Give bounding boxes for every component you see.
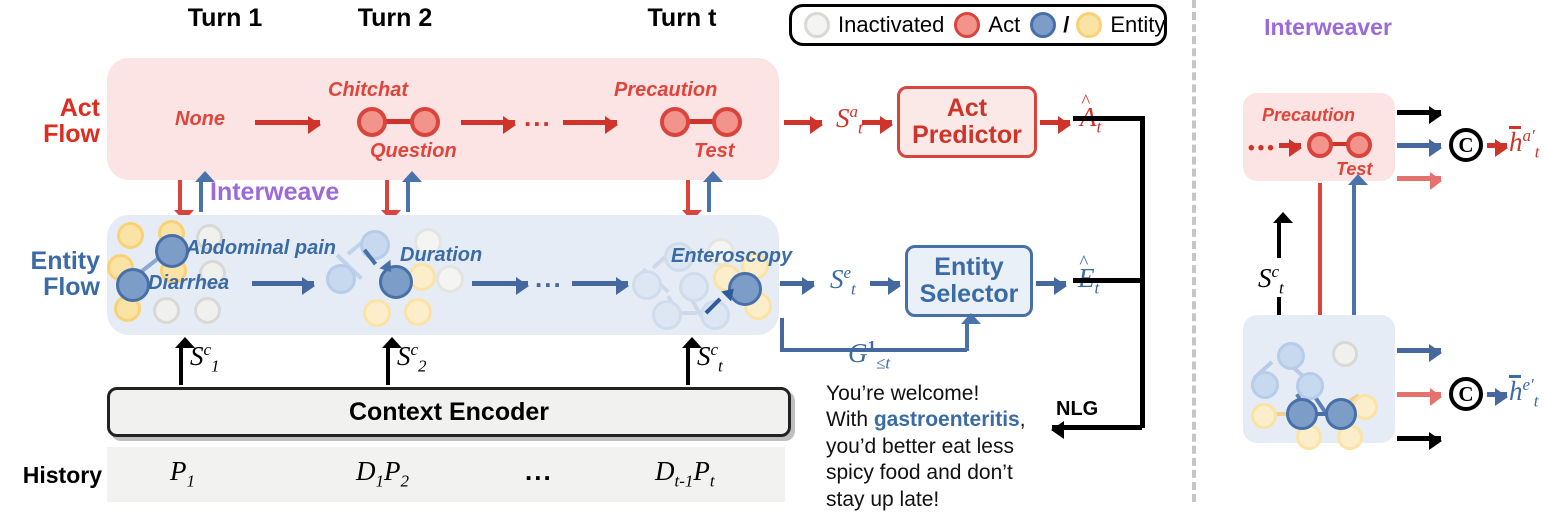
act-turn2-top-label: Chitchat <box>328 79 408 102</box>
interweaver-title: Interweaver <box>1228 14 1428 41</box>
iw-ent-node-gray <box>1332 341 1358 367</box>
interweaver-ent-out-black <box>1397 436 1441 441</box>
legend-act-icon <box>954 12 980 38</box>
act-turnt-top-label: Precaution <box>614 79 717 102</box>
reply-highlight: gastroenteritis <box>874 408 1020 431</box>
act-turn1-label: None <box>175 108 225 131</box>
act-arrow-3 <box>563 120 617 125</box>
signal-s-ct: Sct <box>697 340 723 376</box>
interweaver-ent-combiner: C <box>1449 377 1483 411</box>
history-item-2: D1P2 <box>356 456 409 491</box>
entity-arrow-3 <box>572 281 628 286</box>
entity-band-output-arrow <box>780 281 814 286</box>
interweaver-red-down-arrow <box>1318 183 1322 321</box>
interweaver-act-node-b <box>1346 132 1372 158</box>
interweave-label: Interweave <box>210 178 339 207</box>
entity-turn1-top-label: Abdominal pain <box>186 237 336 260</box>
entity-node-t2-g2 <box>436 265 464 293</box>
history-item-1: P1 <box>170 456 195 491</box>
nlg-arrow <box>1052 425 1142 430</box>
signal-h-ent: he′t <box>1509 375 1539 411</box>
entity-selector-box[interactable]: Entity Selector <box>905 245 1033 317</box>
interweaver-act-out-blue <box>1397 143 1441 148</box>
entity-turn2-label: Duration <box>400 244 482 267</box>
signal-s-c2: Sc2 <box>397 340 427 376</box>
signal-s-act: Sat <box>836 102 863 138</box>
interweaver-act-ellipsis: ••• <box>1248 138 1277 160</box>
interweaver-act-combiner-out <box>1487 143 1507 148</box>
entity-arrow-2 <box>472 281 528 286</box>
turn-t-header: Turn t <box>602 4 762 33</box>
entity-node-tt-d <box>652 300 682 330</box>
legend-label-entity: Entity <box>1110 12 1165 38</box>
history-item-t: Dt-1Pt <box>655 456 715 491</box>
entity-ellipsis: ... <box>535 263 563 294</box>
legend-label-act: Act <box>988 12 1020 38</box>
g-path-into-selector-arrow <box>965 323 969 351</box>
iw-ent-node-b <box>1251 371 1279 399</box>
legend-entity-yellow-icon <box>1076 12 1102 38</box>
legend-entity-blue-icon <box>1030 12 1056 38</box>
iw-ent-node-c <box>1296 372 1324 400</box>
act-turnt-bottom-label: Test <box>694 140 734 163</box>
context-encoder-box[interactable]: Context Encoder <box>107 387 791 437</box>
interweaver-act-node-a <box>1307 132 1333 158</box>
act-node-turn2-b <box>410 107 440 137</box>
act-arrow-2 <box>461 120 515 125</box>
signal-s-c1: Sc1 <box>190 340 220 376</box>
g-path-vertical-left <box>780 318 784 352</box>
interweaver-act-combiner: C <box>1449 128 1483 162</box>
panel-divider <box>1192 0 1196 502</box>
legend: Inactivated Act / Entity <box>789 4 1167 46</box>
iw-ent-node-dark-a <box>1286 398 1318 430</box>
nlg-reply-text: You’re welcome! With gastroenteritis, yo… <box>826 381 1026 513</box>
legend-label-inactivated: Inactivated <box>838 12 944 38</box>
nlg-bracket-vertical <box>1140 116 1145 428</box>
act-node-turnt-b <box>712 107 742 137</box>
interweaver-sct-arrow-up <box>1277 222 1281 258</box>
act-arrow-1 <box>255 120 320 125</box>
interweaver-act-out-black <box>1397 110 1441 115</box>
sct-arrow <box>686 347 690 385</box>
entity-node-t2-b <box>326 264 356 294</box>
history-label: History <box>0 462 102 489</box>
turn-2-header: Turn 2 <box>315 4 475 33</box>
nlg-label: NLG <box>1056 398 1098 421</box>
entity-node-t2-y2 <box>363 299 391 327</box>
signal-s-ent: Set <box>830 263 856 299</box>
act-predictor-output-arrow <box>1040 120 1070 125</box>
entity-node-tt-b <box>632 270 662 300</box>
entity-node-g4 <box>194 297 221 324</box>
interweave-up-arrow-turn2 <box>406 181 410 212</box>
interweaver-ent-combiner-out <box>1487 392 1507 397</box>
entity-node-abdominal-pain <box>155 234 189 268</box>
entity-node-t2-y3 <box>404 298 432 326</box>
entity-arrow-1 <box>252 281 314 286</box>
entity-selector-input-arrow <box>870 281 900 286</box>
interweaver-ent-out-blue <box>1397 348 1441 353</box>
entity-node-tt-c <box>679 272 709 302</box>
signal-h-act: ha′t <box>1509 126 1539 162</box>
interweaver-act-out-red <box>1397 176 1441 181</box>
entity-turnt-label: Enteroscopy <box>671 245 792 268</box>
interweaver-signal-sct: Sct <box>1258 262 1284 298</box>
act-predictor-box[interactable]: Act Predictor <box>897 86 1037 158</box>
nlg-bracket-top <box>1073 116 1145 121</box>
act-turn2-bottom-label: Question <box>370 140 457 163</box>
interweave-up-arrow-turn1 <box>199 181 203 212</box>
iw-ent-node-a <box>1277 342 1305 370</box>
interweave-down-arrow-turn1 <box>178 180 182 211</box>
nlg-bracket-mid <box>1073 278 1145 283</box>
interweave-up-arrow-turnt <box>707 181 711 212</box>
legend-separator: / <box>1063 12 1069 38</box>
entity-node-y1 <box>117 222 144 249</box>
entity-node-g3 <box>153 297 180 324</box>
history-ellipsis: ... <box>525 456 553 487</box>
legend-inactivated-icon <box>804 12 830 38</box>
act-ellipsis: ... <box>524 102 552 133</box>
entity-turn1-bottom-label: Diarrhea <box>148 272 229 295</box>
interweave-down-arrow-turn2 <box>385 180 389 211</box>
signal-g-graph: G1≤t <box>848 337 890 373</box>
entity-flow-label: Entity Flow <box>0 249 100 300</box>
act-flow-label: Act Flow <box>0 96 100 147</box>
turn-1-header: Turn 1 <box>145 4 305 33</box>
sc1-arrow <box>179 347 183 385</box>
interweaver-act-top-label: Precaution <box>1262 105 1355 126</box>
sc2-arrow <box>386 347 390 385</box>
act-node-turnt-a <box>660 107 690 137</box>
act-node-turn2-a <box>357 107 387 137</box>
interweaver-ent-out-red <box>1397 392 1441 397</box>
act-band-output-arrow <box>784 120 822 125</box>
entity-selector-output-arrow <box>1036 281 1066 286</box>
iw-ent-node-dark-b <box>1325 398 1357 430</box>
act-predictor-input-arrow <box>862 120 892 125</box>
interweaver-blue-up-arrow <box>1352 184 1356 321</box>
iw-ent-node-y2 <box>1251 403 1277 429</box>
interweaver-act-arrow <box>1279 143 1301 148</box>
entity-node-diarrhea <box>116 268 150 302</box>
entity-node-t2-a <box>360 230 390 260</box>
interweave-down-arrow-turnt <box>686 180 690 211</box>
